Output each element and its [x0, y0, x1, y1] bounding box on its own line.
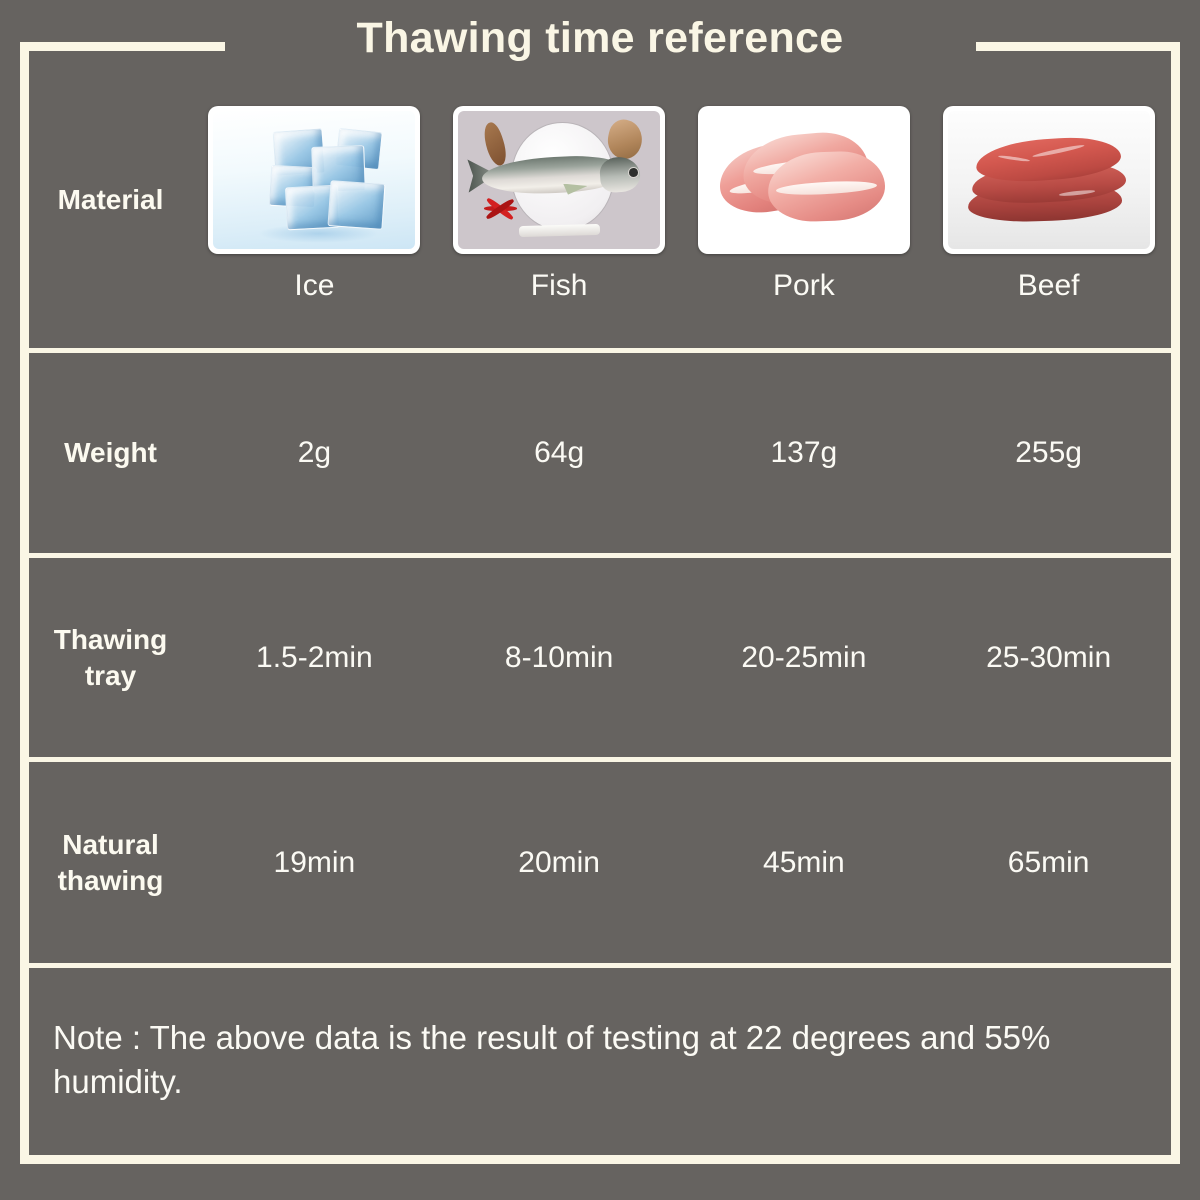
table-row-material: Material Ice [29, 51, 1171, 348]
beef-steaks-photo [943, 106, 1155, 254]
frame-bottom-edge [20, 1155, 1180, 1164]
natural-thawing-value-pork: 45min [682, 844, 927, 882]
weight-value-pork: 137g [682, 434, 927, 472]
table-row-natural-thawing: Natural thawing 19min 20min 45min 65min [29, 762, 1171, 963]
ice-cubes-photo [208, 106, 420, 254]
weight-value-beef: 255g [926, 434, 1171, 472]
thawing-tray-value-ice: 1.5-2min [192, 639, 437, 677]
frame-right-edge [1171, 42, 1180, 1164]
material-label-ice: Ice [294, 268, 334, 304]
row-label-material: Material [29, 182, 192, 218]
natural-thawing-value-beef: 65min [926, 844, 1171, 882]
weight-value-fish: 64g [437, 434, 682, 472]
frame-left-edge [20, 42, 29, 1164]
thawing-time-reference-card: Thawing time reference Material [0, 0, 1200, 1200]
thawing-tray-value-fish: 8-10min [437, 639, 682, 677]
row-label-thawing-tray: Thawing tray [29, 622, 192, 694]
table-row-note: Note : The above data is the result of t… [29, 968, 1171, 1155]
thawing-table: Material Ice [29, 51, 1171, 1155]
material-cell-fish: Fish [437, 96, 682, 304]
natural-thawing-value-ice: 19min [192, 844, 437, 882]
material-cell-pork: Pork [682, 96, 927, 304]
material-cell-ice: Ice [192, 96, 437, 304]
weight-value-ice: 2g [192, 434, 437, 472]
table-row-thawing-tray: Thawing tray 1.5-2min 8-10min 20-25min 2… [29, 558, 1171, 757]
material-label-fish: Fish [531, 268, 588, 304]
row-label-weight: Weight [29, 435, 192, 471]
row-label-natural-thawing-line1: Natural [62, 829, 158, 860]
fish-photo [453, 106, 665, 254]
material-label-pork: Pork [773, 268, 835, 304]
note-text: Note : The above data is the result of t… [53, 1016, 1153, 1104]
thawing-tray-value-beef: 25-30min [926, 639, 1171, 677]
row-label-thawing-tray-line1: Thawing [54, 624, 168, 655]
row-label-natural-thawing: Natural thawing [29, 827, 192, 899]
material-cell-beef: Beef [926, 96, 1171, 304]
thawing-tray-value-pork: 20-25min [682, 639, 927, 677]
row-label-thawing-tray-line2: tray [85, 660, 136, 691]
pork-chops-photo [698, 106, 910, 254]
table-row-weight: Weight 2g 64g 137g 255g [29, 353, 1171, 553]
material-label-beef: Beef [1018, 268, 1080, 304]
row-label-natural-thawing-line2: thawing [58, 865, 164, 896]
natural-thawing-value-fish: 20min [437, 844, 682, 882]
